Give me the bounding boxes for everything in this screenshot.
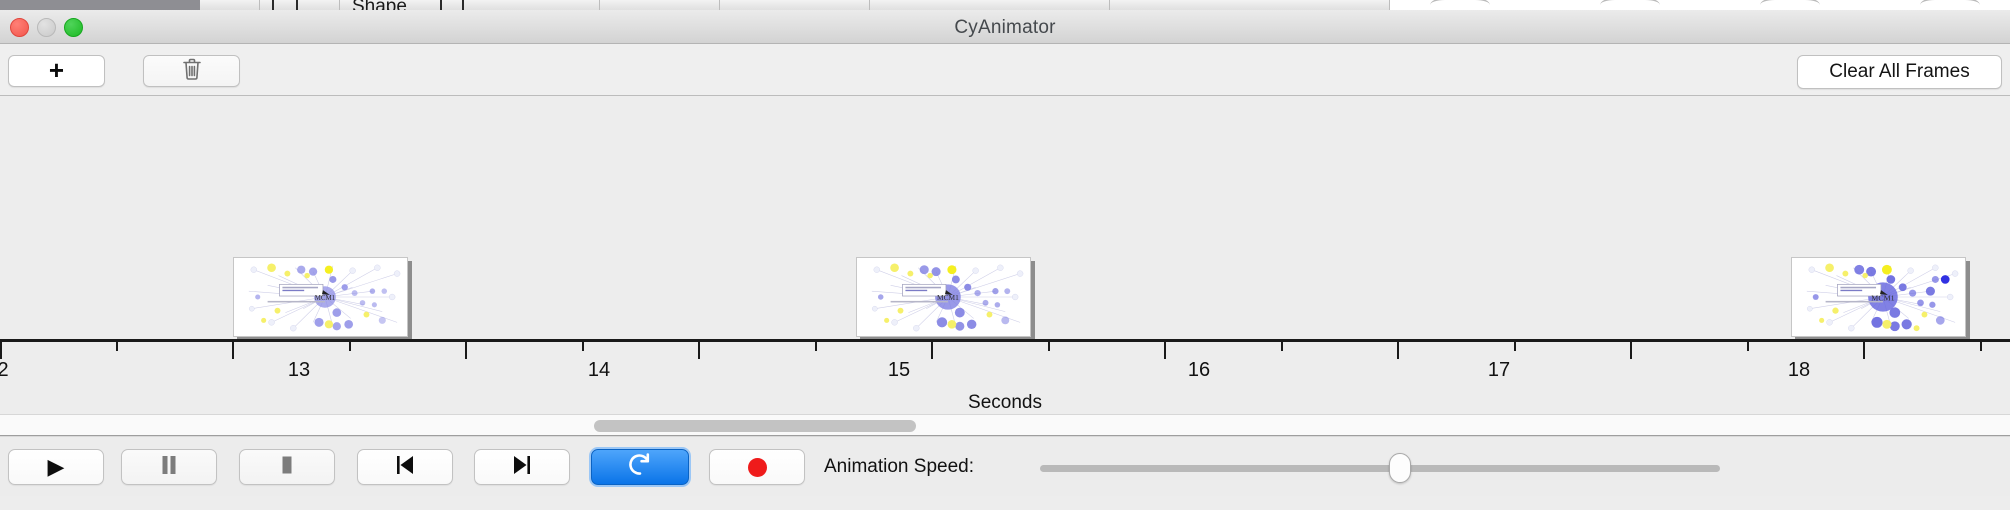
- delete-frame-button[interactable]: [143, 55, 240, 87]
- loop-icon: [627, 452, 653, 483]
- axis-tick-minor: [1048, 342, 1050, 351]
- axis-tick-minor: [1514, 342, 1516, 351]
- axis-tick-major: [232, 342, 234, 359]
- frame-toolbar: + Clear All Frames: [0, 44, 2010, 96]
- axis-tick-major: [698, 342, 700, 359]
- skip-to-end-button[interactable]: [474, 449, 570, 485]
- axis-tick-label: 15: [888, 359, 910, 382]
- network-graph-thumbnail: MCM1: [857, 258, 1030, 336]
- axis-tick-major: [0, 342, 2, 359]
- window-title: CyAnimator: [0, 17, 2010, 39]
- skip-to-end-icon: [510, 454, 534, 481]
- axis-tick-minor: [582, 342, 584, 351]
- loop-button[interactable]: [591, 449, 689, 485]
- axis-tick-minor: [116, 342, 118, 351]
- network-graph-thumbnail: MCM1: [234, 258, 407, 336]
- axis-tick-major: [1630, 342, 1632, 359]
- window-titlebar: CyAnimator: [0, 10, 2010, 44]
- play-button[interactable]: ▶: [8, 449, 104, 485]
- animation-speed-slider-thumb[interactable]: [1389, 453, 1411, 483]
- axis-tick-major: [1863, 342, 1865, 359]
- axis-tick-label: 14: [588, 359, 610, 382]
- thumbnail-node-label: MCM1: [315, 295, 336, 302]
- stop-icon: [278, 454, 296, 481]
- record-button[interactable]: [709, 449, 805, 485]
- stop-button[interactable]: [239, 449, 335, 485]
- axis-tick-minor: [1747, 342, 1749, 351]
- pause-icon: [160, 454, 178, 481]
- timeline-axis-line: [0, 339, 2010, 342]
- play-icon: ▶: [48, 456, 65, 478]
- axis-tick-minor: [1281, 342, 1283, 351]
- timeline-panel[interactable]: MCM1: [0, 96, 2010, 414]
- timeline-horizontal-scrollbar[interactable]: [0, 414, 2010, 436]
- axis-tick-label: 16: [1188, 359, 1210, 382]
- clear-all-frames-label: Clear All Frames: [1829, 61, 1969, 83]
- axis-tick-minor: [349, 342, 351, 351]
- cyanimator-window: CyAnimator + Clear All Frames: [0, 10, 2010, 510]
- animation-speed-slider[interactable]: [1040, 465, 1720, 472]
- add-frame-button[interactable]: +: [8, 55, 105, 87]
- axis-title: Seconds: [0, 392, 2010, 414]
- skip-to-start-button[interactable]: [357, 449, 453, 485]
- plus-icon: +: [49, 57, 64, 83]
- axis-tick-label: 13: [288, 359, 310, 382]
- playback-control-bar: ▶: [0, 436, 2010, 496]
- skip-to-start-icon: [393, 454, 417, 481]
- record-icon: [748, 458, 767, 477]
- animation-speed-label: Animation Speed:: [824, 456, 974, 478]
- axis-tick-label: 17: [1488, 359, 1510, 382]
- timeline-frame-thumbnail-1[interactable]: MCM1: [233, 257, 408, 337]
- axis-tick-label: 2: [0, 359, 9, 382]
- axis-tick-minor: [815, 342, 817, 351]
- scrollbar-thumb[interactable]: [594, 420, 916, 432]
- timeline-frame-thumbnail-3[interactable]: MCM1: [1791, 257, 1966, 337]
- axis-tick-major: [1164, 342, 1166, 359]
- pause-button[interactable]: [121, 449, 217, 485]
- clear-all-frames-button[interactable]: Clear All Frames: [1797, 55, 2002, 89]
- timeline-frame-thumbnail-2[interactable]: MCM1: [856, 257, 1031, 337]
- axis-tick-label: 18: [1788, 359, 1810, 382]
- axis-tick-minor: [1980, 342, 1982, 351]
- axis-tick-major: [465, 342, 467, 359]
- network-graph-thumbnail: MCM1: [1792, 258, 1965, 336]
- trash-icon: [181, 57, 203, 86]
- thumbnail-node-label: MCM1: [937, 293, 959, 302]
- axis-tick-major: [1397, 342, 1399, 359]
- axis-tick-major: [931, 342, 933, 359]
